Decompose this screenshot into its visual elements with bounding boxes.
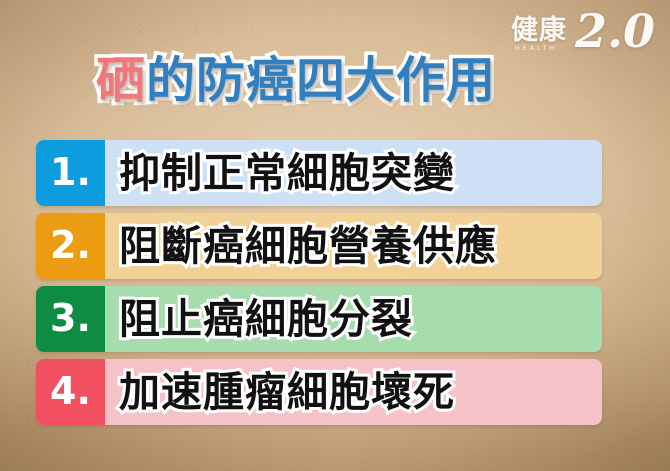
list-item-label: 阻止癌細胞分裂	[105, 286, 602, 352]
title-accent-character: 硒	[96, 56, 146, 105]
list-item: 3. 阻止癌細胞分裂	[36, 286, 602, 352]
channel-logo: 健康 HEALTH 2.0	[503, 14, 670, 62]
title-main-text: 的防癌四大作用	[146, 56, 496, 105]
list-item-number: 2.	[36, 213, 105, 279]
list-item-number: 3.	[36, 286, 105, 352]
list-item: 1. 抑制正常細胞突變	[36, 140, 602, 206]
infographic-slide: 健康 HEALTH 2.0 硒的防癌四大作用 1. 抑制正常細胞突變 2. 阻斷…	[0, 0, 670, 471]
logo-cjk-text: 健康	[511, 17, 567, 44]
list-item-number: 4.	[36, 359, 105, 425]
list-item: 4. 加速腫瘤細胞壞死	[36, 359, 602, 425]
page-title: 硒的防癌四大作用	[96, 49, 496, 111]
logo-version-text: 2.0	[575, 8, 655, 54]
list-item: 2. 阻斷癌細胞營養供應	[36, 213, 602, 279]
list-item-number: 1.	[36, 140, 105, 206]
list-item-label: 阻斷癌細胞營養供應	[105, 213, 602, 279]
list-item-label: 加速腫瘤細胞壞死	[105, 359, 602, 425]
logo-latin-text: HEALTH	[515, 45, 557, 52]
list-item-label: 抑制正常細胞突變	[105, 140, 602, 206]
